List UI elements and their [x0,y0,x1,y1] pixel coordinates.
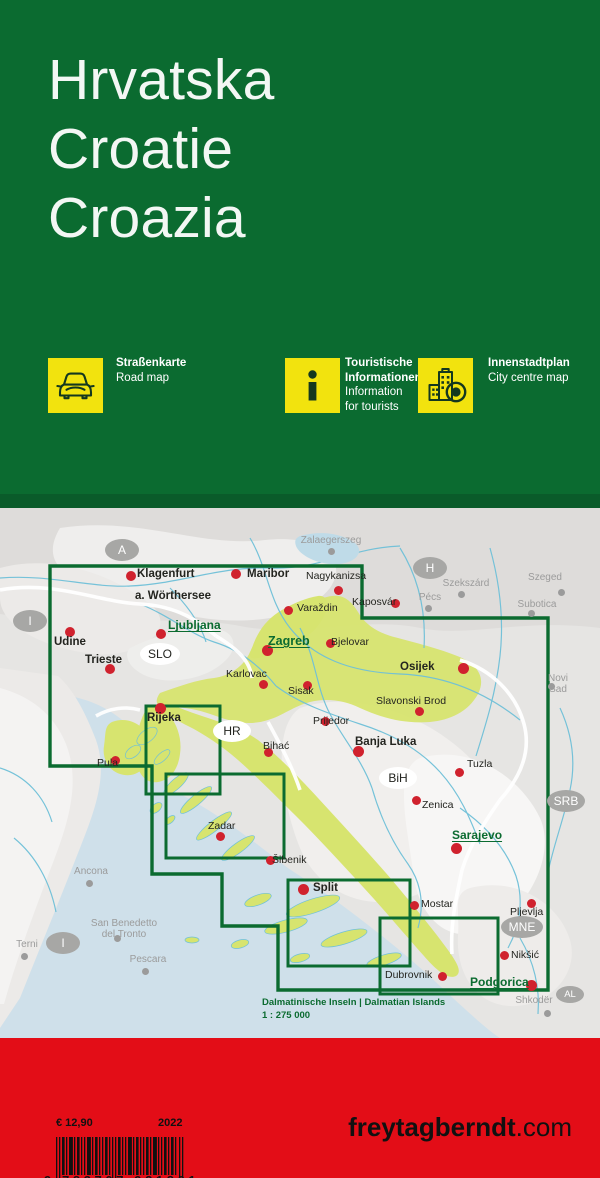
city-label: Podgorica [470,975,529,989]
legend-line-de: Innenstadtplan [488,356,570,371]
title-block: Hrvatska Croatie Croazia [48,46,274,253]
legend-line-de: Straßenkarte [116,356,186,371]
legend-line-en: City centre map [488,371,570,386]
map-caption: Dalmatinische Inseln | Dalmatian Islands… [262,997,445,1022]
city-dot [334,586,343,595]
city-label-minor: Zalaegerszeg [296,535,366,546]
legend-text-city-centre-map: Innenstadtplan City centre map [488,356,570,385]
title-line-croatie: Croatie [48,115,274,184]
city-dot [259,680,268,689]
city-label: Split [313,882,338,894]
map-thumbnail[interactable] [0,508,600,1038]
city-label: Klagenfurt [137,568,195,580]
caption-scale: 1 : 275 000 [262,1009,445,1022]
brand-name: freytagberndt [348,1112,516,1142]
city-label: Pula [97,757,118,769]
legend-text-road-map: Straßenkarte Road map [116,356,186,385]
year-label: 2022 [158,1117,182,1129]
city-dot [451,843,462,854]
city-label-minor: Szekszárd [437,578,495,589]
country-code-badge: HR [213,720,251,742]
city-dot-minor [558,589,565,596]
title-line-croazia: Croazia [48,184,274,253]
legend-text-tourist-information: Touristische Informationen Information f… [345,356,422,414]
map-graphic [0,508,600,1038]
legend-line-en: Road map [116,371,186,386]
country-code-badge: I [13,610,47,632]
city-label: Nikšić [511,949,539,961]
caption-islands: Dalmatinische Inseln | Dalmatian Islands [262,997,445,1009]
footer-panel: € 12,90 2022 [0,1038,600,1178]
city-label: Sisak [288,685,314,697]
legend-line-en-2: for tourists [345,400,422,415]
city-dot [410,901,419,910]
city-dot [156,629,166,639]
car-icon [48,358,103,413]
city-label-minor: Novi Sad [541,673,575,695]
city-label: Karlovac [226,668,267,680]
city-label: Prijedor [313,715,349,727]
city-label: Osijek [400,661,435,673]
city-dot [284,606,293,615]
price-label: € 12,90 [56,1117,93,1129]
city-label: Banja Luka [355,736,416,748]
country-code-badge: MNE [501,916,543,938]
city-label: Sarajevo [452,828,502,842]
city-centre-icon [418,358,473,413]
city-dot [415,707,424,716]
city-label: Kaposvár [352,596,396,608]
city-dot-minor [328,548,335,555]
city-label-minor: Terni [10,939,44,950]
city-label: Mostar [421,898,453,910]
city-label: Šibenik [272,854,306,866]
header-bottom-band [0,494,600,508]
city-dot-minor [458,591,465,598]
city-dot [458,663,469,674]
publisher-logo[interactable]: freytagberndt.com [348,1112,572,1143]
country-code-badge: AL [556,986,584,1003]
city-dot [298,884,309,895]
city-label: a. Wörthersee [135,590,211,602]
city-dot [438,972,447,981]
city-label: Trieste [85,654,122,666]
legend-line-en-1: Information [345,385,422,400]
city-label: Maribor [247,568,289,580]
city-label-minor: Shkodër [510,995,558,1006]
city-label-minor: Subotica [513,599,561,610]
header-panel: Hrvatska Croatie Croazia [0,0,600,494]
city-label-minor: Pécs [415,592,445,603]
title-line-hrvatska: Hrvatska [48,46,274,115]
legend-line-de-1: Touristische [345,356,422,371]
barcode-image [55,1137,189,1178]
city-label-minor: Szeged [523,572,568,583]
city-label: Ljubljana [168,618,221,632]
map-cover-page: Hrvatska Croatie Croazia [0,0,600,1178]
isbn-number: 9 783707 921861 [44,1173,199,1178]
city-label: Dubrovnik [385,969,432,981]
country-code-badge: H [413,557,447,579]
country-code-badge: SRB [547,790,585,812]
brand-tld: .com [516,1112,572,1142]
country-code-badge: I [46,932,80,954]
legend-line-de-2: Informationen [345,371,422,386]
city-dot-minor [528,610,535,617]
city-label: Tuzla [467,758,492,770]
city-label: Varaždin [297,602,338,614]
city-label-minor: Ancona [68,866,114,877]
city-dot-minor [142,968,149,975]
city-dot-minor [21,953,28,960]
city-dot-minor [544,1010,551,1017]
city-label: Nagykanizsa [306,570,366,582]
country-code-badge: BiH [379,767,417,789]
legend-block: Straßenkarte Road map Touristische Infor… [48,358,588,438]
city-dot [455,768,464,777]
city-dot [216,832,225,841]
city-label: Udine [54,636,86,648]
city-label: Slavonski Brod [376,695,446,707]
city-dot-minor [86,880,93,887]
city-label: Zenica [422,799,454,811]
city-label: Rijeka [147,712,181,724]
city-dot [126,571,136,581]
city-label-minor: Pescara [124,954,172,965]
country-code-badge: A [105,539,139,561]
city-label: Zadar [208,820,235,832]
information-icon [285,358,340,413]
city-label: Bjelovar [331,636,369,648]
city-dot [231,569,241,579]
country-code-badge: SLO [140,643,180,665]
city-dot [412,796,421,805]
city-dot [500,951,509,960]
city-label: Bihać [263,740,289,752]
city-dot-minor [425,605,432,612]
city-label-minor: San Benedetto del Tronto [88,918,160,940]
city-label: Zagreb [268,634,310,648]
